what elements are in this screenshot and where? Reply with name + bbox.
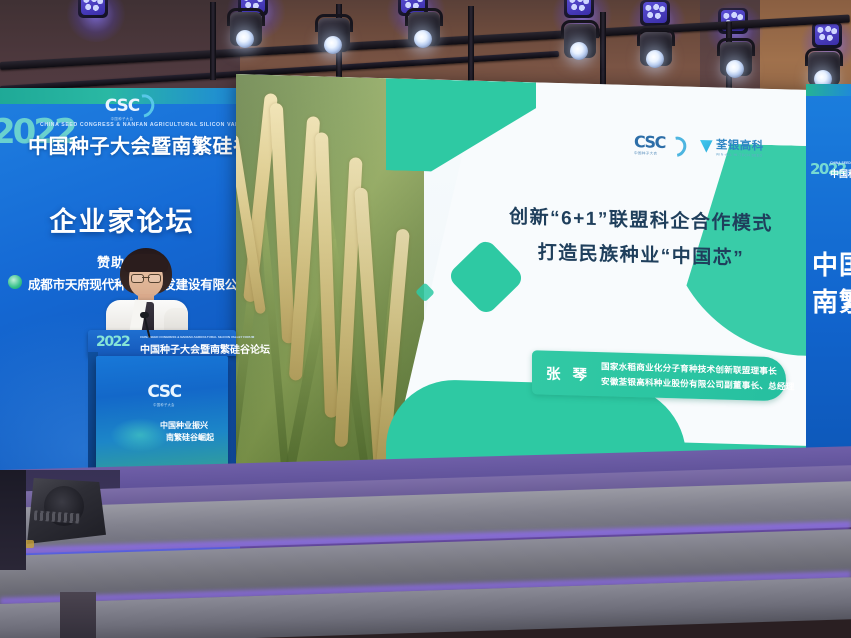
slide-csc-logo: CSC 中国种子大会 [634,132,686,157]
csc-logo-mark: CSC [634,132,665,152]
truss-post [600,12,606,88]
backdrop-right-header-cn: 中国种 [830,167,851,180]
csc-logo-sub: 中国种子大会 [634,151,665,157]
stage-riser-block [60,592,96,638]
podium-slogan-line1: 中国种业振兴 [160,420,208,431]
podium-year: 2022 [96,334,129,350]
truss-post [210,2,216,80]
led-par-icon [640,0,670,26]
presentation-screen: CSC 中国种子大会 荃银高科 WIN-ALL HI-TECH SEED 创新“… [236,74,811,494]
speaker-name: 张 琴 [532,362,601,385]
foreground-wall-left [0,470,26,570]
podium-header-en: CHINA SEED CONGRESS & NANFAN AGRICULTURA… [140,335,254,339]
csc-logo-mark: CSC [138,382,190,402]
microphone-icon [140,312,149,318]
slide-logo-row: CSC 中国种子大会 荃银高科 WIN-ALL HI-TECH SEED [634,129,794,163]
conference-stage-photo: CSC 中国种子大会 2022 CHINA SEED CONGRESS & NA… [0,0,851,638]
podium-csc-logo: CSC 中国种子大会 [138,382,190,407]
slide-title: 创新“6+1”联盟科企合作模式 打造民族种业“中国芯” [486,199,796,278]
backdrop-header-en: CHINA SEED CONGRESS & NANFAN AGRICULTURA… [40,122,240,128]
backdrop-right-line1: 中国 [812,245,851,282]
podium-slogan-line2: 南繁硅谷崛起 [166,432,214,443]
forum-title: 企业家论坛 [22,200,222,239]
moving-head-light [716,34,756,80]
moving-head-light [404,4,444,50]
led-par-icon [78,0,108,18]
winall-v-icon [700,139,713,152]
moving-head-light [636,24,676,70]
winall-logo-cn: 荃银高科 [716,136,764,153]
slide-winall-logo: 荃银高科 WIN-ALL HI-TECH SEED [700,136,764,158]
backdrop-right-line2: 南繁 [812,282,851,319]
speaker-name-bar: 张 琴 国家水稻商业化分子育种技术创新联盟理事长 安徽荃银高科种业股份有限公司副… [532,350,786,401]
winall-logo-en: WIN-ALL HI-TECH SEED [716,152,764,157]
glasses-icon [131,274,161,281]
speaker-roles: 国家水稻商业化分子育种技术创新联盟理事长 安徽荃银高科种业股份有限公司副董事长、… [601,359,794,394]
podium-header-cn: 中国种子大会暨南繁硅谷论坛 [140,341,270,356]
slide-content: CSC 中国种子大会 荃银高科 WIN-ALL HI-TECH SEED 创新“… [236,74,811,494]
backdrop-header-cn: 中国种子大会暨南繁硅谷论坛 [28,130,240,159]
backdrop-right-header-en: CHINA SEED CONGRESS [830,161,851,165]
hair-fringe [124,254,168,272]
moving-head-light [226,4,266,50]
moving-head-light [314,10,354,56]
backdrop-csc-logo: CSC 中国种子大会 [96,96,148,121]
moving-head-light [560,16,600,62]
csc-logo-sub: 中国种子大会 [138,402,190,407]
